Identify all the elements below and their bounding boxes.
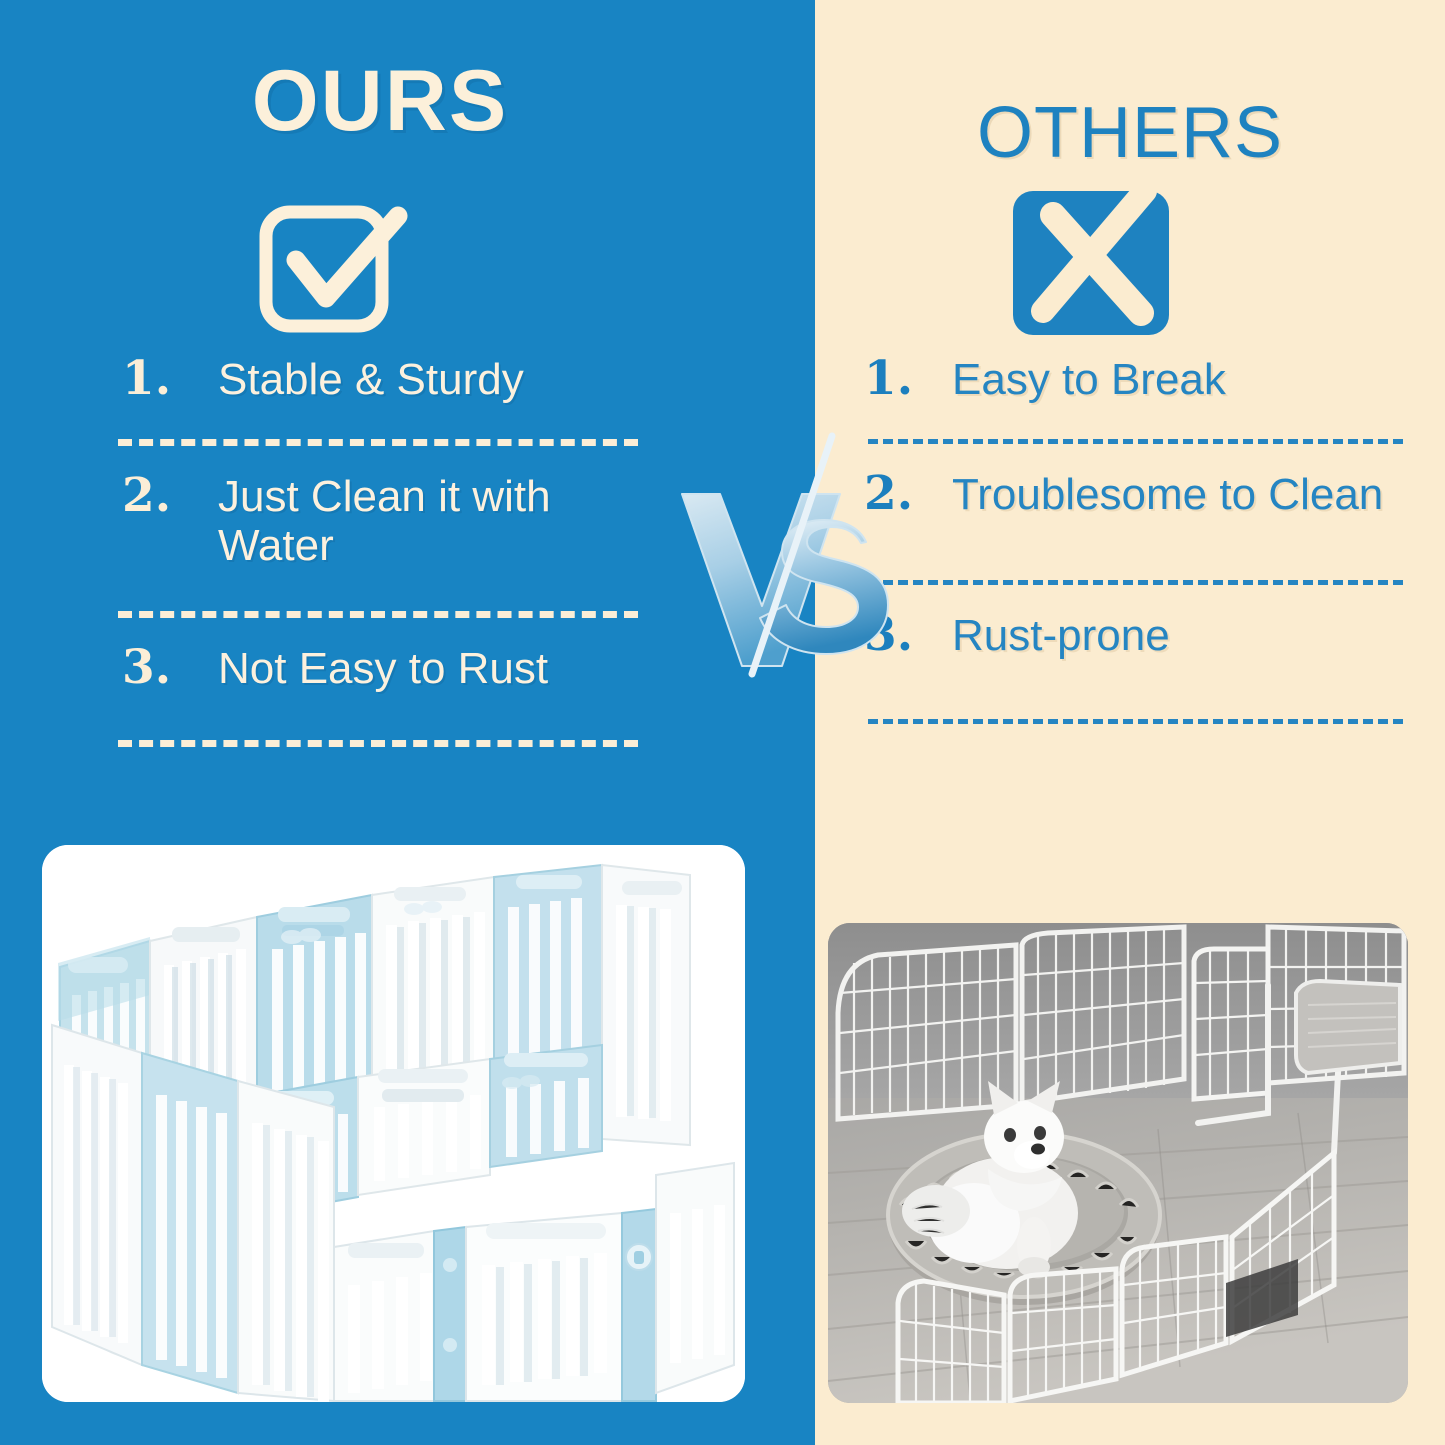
- versus-graphic: [676, 430, 906, 680]
- list-item-label: Easy to Break: [952, 355, 1226, 404]
- others-feature-list: 1. Easy to Break 2. Troublesome to Clean…: [860, 355, 1420, 750]
- list-item-number: 2.: [122, 472, 200, 519]
- divider: [118, 611, 638, 618]
- ours-product-photo: [42, 845, 745, 1402]
- divider: [118, 439, 638, 446]
- list-item-label: Troublesome to Clean: [952, 470, 1383, 519]
- divider: [868, 439, 1403, 444]
- list-item: 1. Stable & Sturdy: [110, 355, 650, 413]
- x-square-icon: [1013, 183, 1178, 348]
- comparison-infographic: OURS 1. Stable & Sturdy 2. Just Clean it…: [0, 0, 1445, 1445]
- others-product-photo: [828, 923, 1408, 1403]
- list-item-number: 3.: [122, 644, 200, 691]
- list-item: 1. Easy to Break: [860, 355, 1420, 413]
- divider: [118, 740, 638, 747]
- list-item-number: 1.: [122, 355, 200, 402]
- others-title: OTHERS: [815, 92, 1445, 174]
- divider: [868, 580, 1403, 585]
- list-item-label: Rust-prone: [952, 611, 1170, 660]
- divider: [868, 719, 1403, 724]
- list-item-label: Stable & Sturdy: [218, 355, 524, 404]
- check-square-icon: [252, 198, 412, 353]
- list-item: 2. Troublesome to Clean: [860, 470, 1420, 528]
- list-item: 3. Not Easy to Rust: [110, 644, 650, 702]
- list-item-number: 1.: [864, 355, 934, 402]
- list-item-label: Just Clean it with Water: [218, 472, 618, 571]
- ours-feature-list: 1. Stable & Sturdy 2. Just Clean it with…: [110, 355, 650, 773]
- list-item: 3. Rust-prone: [860, 611, 1420, 669]
- list-item-label: Not Easy to Rust: [218, 644, 548, 693]
- list-item: 2. Just Clean it with Water: [110, 472, 650, 571]
- ours-title: OURS: [0, 52, 760, 151]
